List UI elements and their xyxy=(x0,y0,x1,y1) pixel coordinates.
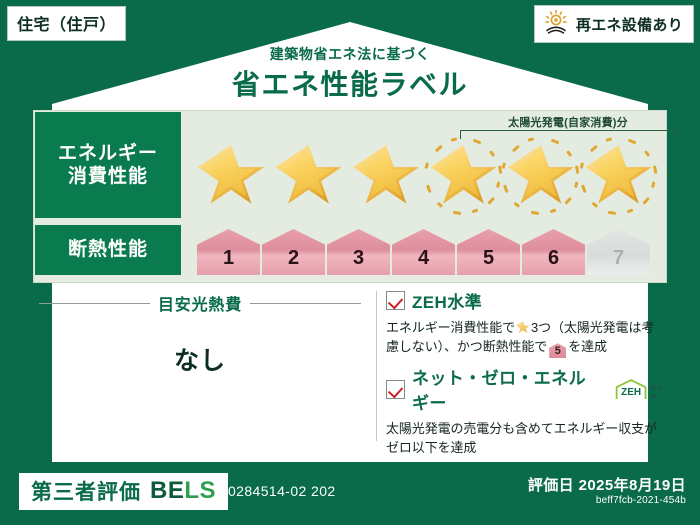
insulation-level-achieved: 3 xyxy=(327,229,390,275)
energy-star xyxy=(194,141,268,213)
criterion-netzero-description: 太陽光発電の売電分も含めてエネルギー収支がゼロ以下を達成 xyxy=(386,419,666,457)
star-sparkle-icon xyxy=(453,210,461,215)
solar-bracket-label: 太陽光発電(自家消費)分 xyxy=(452,114,684,130)
star-sparkle-icon xyxy=(472,208,479,213)
utility-cost-block: 目安光熱費 なし xyxy=(35,291,365,386)
star-sparkle-icon xyxy=(591,202,598,208)
energy-performance-label: 住宅（住戸） 再エネ設備あり 建築物省エネ法 xyxy=(0,0,700,525)
renewable-equipment-chip: 再エネ設備あり xyxy=(534,5,694,43)
star-sparkle-icon xyxy=(426,184,432,193)
utility-cost-title: 目安光熱費 xyxy=(158,291,242,315)
insulation-level-scale: 1234567 xyxy=(197,225,650,275)
star-sparkle-icon xyxy=(496,182,501,189)
criterion-zeh-header: ZEH水準 xyxy=(386,288,666,313)
star-sparkle-icon xyxy=(651,182,656,189)
star-sparkle-icon xyxy=(566,150,572,157)
star-sparkle-icon xyxy=(590,145,598,153)
energy-star-solar xyxy=(427,141,501,213)
criterion-netzero-header: ネット・ゼロ・エネルギー ZEH ゼッチ xyxy=(386,364,666,414)
star-sparkle-icon xyxy=(627,208,634,213)
third-party-label: 第三者評価 xyxy=(31,476,141,506)
inline-grade-badge: 5 xyxy=(549,343,566,358)
energy-star-solar xyxy=(582,141,656,213)
criterion-zeh-title: ZEH水準 xyxy=(412,288,482,313)
star-sparkle-icon xyxy=(436,202,443,208)
solar-sun-icon xyxy=(543,9,569,40)
star-sparkle-icon xyxy=(579,162,584,169)
evaluation-code: beff7fcb-2021-454b xyxy=(596,495,686,506)
insulation-level-unachieved: 7 xyxy=(587,229,650,275)
star-sparkle-icon xyxy=(608,210,616,215)
star-sparkle-icon xyxy=(581,184,587,193)
utility-cost-value: なし xyxy=(35,341,365,377)
star-sparkle-icon xyxy=(487,197,495,205)
label-title: 省エネ性能ラベル xyxy=(0,63,700,103)
performance-panel: エネルギー 消費性能 太陽光発電(自家消費)分 断熱性能 1234567 xyxy=(33,110,667,283)
star-sparkle-icon xyxy=(435,145,443,153)
bels-logo-part2: LS xyxy=(184,477,216,504)
zeh-standard-checkbox[interactable] xyxy=(386,291,405,310)
bels-logo-part1: BE xyxy=(150,477,184,504)
utility-cost-heading: 目安光熱費 xyxy=(35,291,365,315)
solar-bracket-line xyxy=(460,130,676,139)
heading-rule-left xyxy=(39,303,150,304)
footer-band: 第三者評価 BELS 0284514-02 202 評価日 2025年8月19日… xyxy=(0,462,700,525)
star-sparkle-icon xyxy=(514,202,521,208)
insulation-level-achieved: 5 xyxy=(457,229,520,275)
criterion-zeh-standard: ZEH水準 エネルギー消費性能で3つ（太陽光発電は考慮しない）、かつ断熱性能で5… xyxy=(386,288,666,358)
energy-performance-tag: エネルギー 消費性能 xyxy=(35,112,181,218)
bels-logo: BELS xyxy=(150,477,216,505)
insulation-performance-tag: 断熱性能 xyxy=(35,225,181,275)
svg-text:ZEH: ZEH xyxy=(621,386,641,397)
insulation-level-achieved: 1 xyxy=(197,229,260,275)
star-sparkle-icon xyxy=(642,197,650,205)
star-sparkle-icon xyxy=(643,150,649,157)
star-sparkle-icon xyxy=(502,162,507,169)
energy-star-rating xyxy=(194,127,660,215)
heading-rule-right xyxy=(250,303,361,304)
zeh-logo-subtext: ゼッチ xyxy=(650,383,666,401)
insulation-level-achieved: 6 xyxy=(522,229,585,275)
label-subtitle: 建築物省エネ法に基づく xyxy=(0,44,700,64)
evaluation-date: 評価日 2025年8月19日 xyxy=(528,474,686,495)
star-sparkle-icon xyxy=(424,162,429,169)
zeh-desc-pre: エネルギー消費性能で xyxy=(386,320,515,335)
star-sparkle-icon xyxy=(574,182,579,189)
energy-tag-line2: 消費性能 xyxy=(68,165,148,188)
bels-registration-number: 0284514-02 202 xyxy=(228,483,336,499)
zeh-house-logo: ZEH ゼッチ xyxy=(613,377,666,402)
renewable-chip-label: 再エネ設備あり xyxy=(576,14,683,35)
star-sparkle-icon xyxy=(488,150,494,157)
energy-tag-line1: エネルギー xyxy=(58,142,158,165)
star-sparkle-icon xyxy=(549,208,556,213)
star-sparkle-icon xyxy=(653,165,658,173)
energy-star xyxy=(272,141,346,213)
star-sparkle-icon xyxy=(512,145,520,153)
energy-star-solar xyxy=(504,141,578,213)
section-divider xyxy=(376,291,377,441)
insulation-level-achieved: 4 xyxy=(392,229,455,275)
housing-type-label: 住宅（住戸） xyxy=(17,17,116,34)
insulation-tag-label: 断熱性能 xyxy=(68,238,148,261)
star-sparkle-icon xyxy=(530,210,538,215)
criterion-net-zero-energy: ネット・ゼロ・エネルギー ZEH ゼッチ 太陽光発電の売電分も含めてエネルギー収… xyxy=(386,364,666,457)
insulation-level-achieved: 2 xyxy=(262,229,325,275)
zeh-desc-post: を達成 xyxy=(568,339,607,354)
star-sparkle-icon xyxy=(503,184,509,193)
criterion-netzero-title: ネット・ゼロ・エネルギー xyxy=(412,364,601,414)
solar-contribution-bracket: 太陽光発電(自家消費)分 xyxy=(452,114,684,140)
star-sparkle-icon xyxy=(565,197,573,205)
bels-certification-chip: 第三者評価 BELS xyxy=(19,473,228,510)
housing-type-chip: 住宅（住戸） xyxy=(7,6,126,41)
energy-star xyxy=(349,141,423,213)
net-zero-checkbox[interactable] xyxy=(386,380,405,399)
criterion-zeh-description: エネルギー消費性能で3つ（太陽光発電は考慮しない）、かつ断熱性能で5を達成 xyxy=(386,318,666,358)
inline-star-icon xyxy=(516,321,530,334)
